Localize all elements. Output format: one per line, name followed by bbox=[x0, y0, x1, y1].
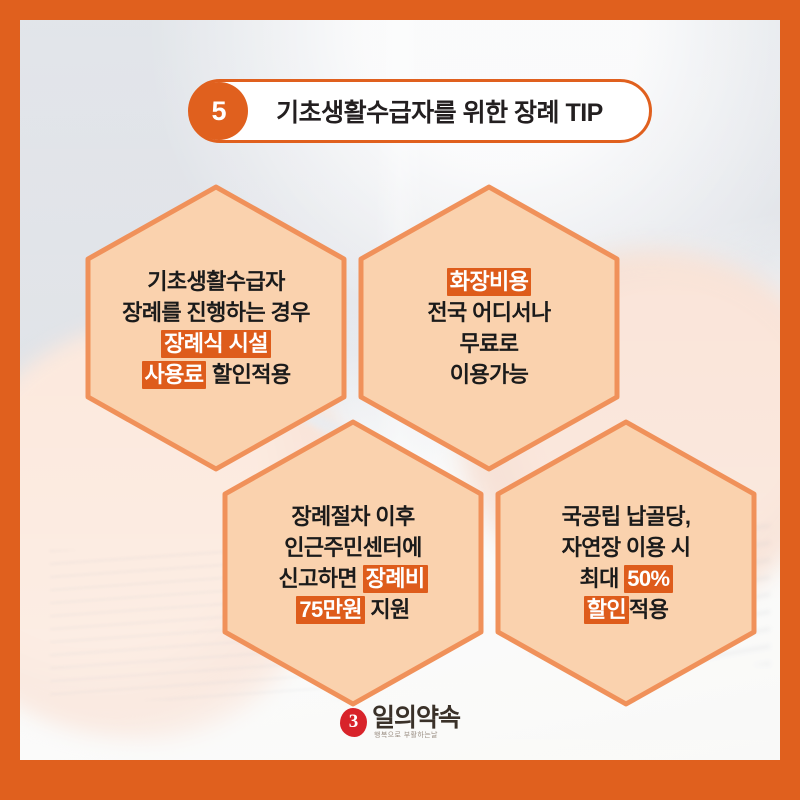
logo-main-text: 일의약속 bbox=[372, 706, 460, 731]
plain-text: 최대 bbox=[579, 566, 624, 591]
infographic-canvas: 5 기초생활수급자를 위한 장례 TIP 기초생활수급자장례를 진행하는 경우장… bbox=[0, 0, 800, 800]
plain-text: 신고하면 bbox=[279, 566, 363, 591]
tip-hexagon-1-text: 기초생활수급자장례를 진행하는 경우장례식 시설사용료 할인적용 bbox=[96, 266, 336, 391]
tip-line: 이용가능 bbox=[369, 359, 609, 390]
tip-hexagon-2-text: 화장비용전국 어디서나무료로이용가능 bbox=[369, 266, 609, 391]
highlighted-text: 할인 bbox=[584, 596, 629, 624]
tip-hexagon-4-text: 국공립 납골당,자연장 이용 시최대 50%할인적용 bbox=[506, 501, 746, 626]
highlighted-text: 50% bbox=[624, 565, 672, 593]
plain-text: 장례를 진행하는 경우 bbox=[122, 300, 310, 325]
tip-line: 사용료 할인적용 bbox=[96, 359, 336, 390]
tip-line: 75만원 지원 bbox=[233, 594, 473, 625]
tip-line: 자연장 이용 시 bbox=[506, 532, 746, 563]
tip-line: 인근주민센터에 bbox=[233, 532, 473, 563]
tip-line: 장례를 진행하는 경우 bbox=[96, 297, 336, 328]
brand-logo: 3 일의약속 행복으로 부활하는날 bbox=[20, 698, 780, 746]
tip-line: 할인적용 bbox=[506, 594, 746, 625]
tip-hexagon-4: 국공립 납골당,자연장 이용 시최대 50%할인적용 bbox=[490, 418, 762, 708]
logo-sub-text: 행복으로 부활하는날 bbox=[374, 732, 438, 739]
tip-line: 전국 어디서나 bbox=[369, 297, 609, 328]
tip-line: 장례식 시설 bbox=[96, 328, 336, 359]
highlighted-text: 사용료 bbox=[142, 361, 207, 389]
plain-text: 국공립 납골당, bbox=[562, 504, 691, 529]
logo-number-badge: 3 bbox=[340, 708, 367, 737]
highlighted-text: 장례식 시설 bbox=[161, 330, 271, 358]
tip-line: 기초생활수급자 bbox=[96, 266, 336, 297]
section-title-pill: 5 기초생활수급자를 위한 장례 TIP bbox=[188, 79, 652, 143]
tip-line: 최대 50% bbox=[506, 563, 746, 594]
plain-text: 자연장 이용 시 bbox=[562, 535, 691, 560]
plain-text: 지원 bbox=[365, 597, 410, 622]
tip-hexagon-3-text: 장례절차 이후인근주민센터에신고하면 장례비75만원 지원 bbox=[233, 501, 473, 626]
tip-line: 신고하면 장례비 bbox=[233, 563, 473, 594]
content-card: 5 기초생활수급자를 위한 장례 TIP 기초생활수급자장례를 진행하는 경우장… bbox=[20, 20, 780, 760]
tip-hexagon-3: 장례절차 이후인근주민센터에신고하면 장례비75만원 지원 bbox=[217, 418, 489, 708]
plain-text: 무료로 bbox=[460, 331, 519, 356]
section-number-badge: 5 bbox=[190, 82, 248, 140]
plain-text: 적용 bbox=[629, 597, 668, 622]
plain-text: 인근주민센터에 bbox=[284, 535, 421, 560]
plain-text: 기초생활수급자 bbox=[147, 269, 284, 294]
plain-text: 이용가능 bbox=[450, 362, 529, 387]
highlighted-text: 75만원 bbox=[296, 596, 365, 624]
tip-line: 화장비용 bbox=[369, 266, 609, 297]
tip-line: 무료로 bbox=[369, 328, 609, 359]
plain-text: 전국 어디서나 bbox=[427, 300, 550, 325]
highlighted-text: 장례비 bbox=[363, 565, 428, 593]
tip-line: 국공립 납골당, bbox=[506, 501, 746, 532]
page-title: 기초생활수급자를 위한 장례 TIP bbox=[248, 93, 649, 129]
plain-text: 장례절차 이후 bbox=[291, 504, 414, 529]
highlighted-text: 화장비용 bbox=[447, 268, 532, 296]
logo-wordmark: 일의약속 행복으로 부활하는날 bbox=[372, 706, 460, 739]
plain-text: 할인적용 bbox=[206, 362, 290, 387]
tip-line: 장례절차 이후 bbox=[233, 501, 473, 532]
